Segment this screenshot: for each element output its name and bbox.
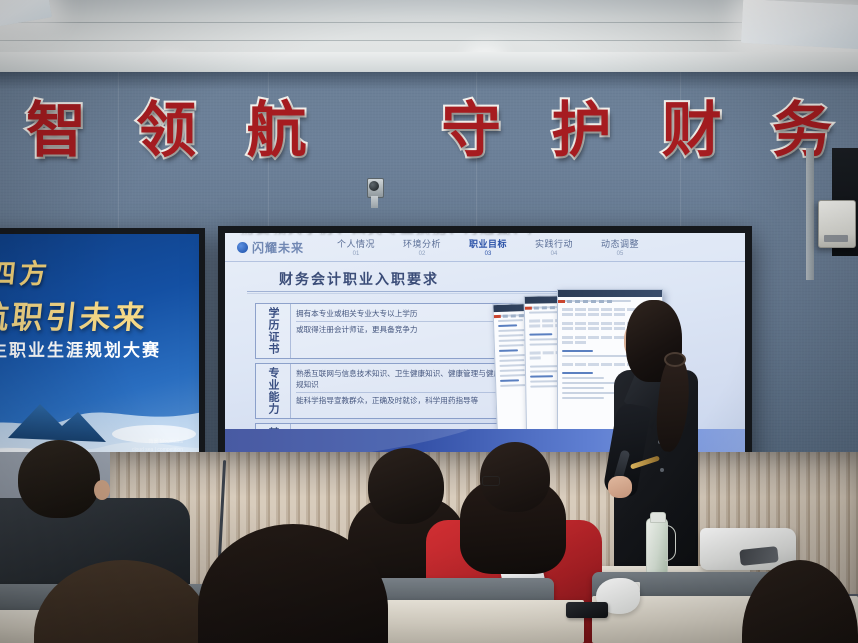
water-bottle (646, 518, 668, 576)
poster-line-3: 大学生职业生涯规划大赛 (0, 336, 161, 361)
slogan-char-4: 守 (441, 92, 501, 172)
slide-footer-text: 需要相关学历、四类专业技能、沟通强、广 (239, 233, 543, 451)
slogan-char-1: 智 (26, 92, 86, 172)
wall-trim (806, 148, 814, 280)
ceiling (0, 0, 858, 78)
wall-camera-icon (366, 178, 383, 208)
attendee-foreground-left (34, 560, 212, 643)
poster-line-1: 在四方 (0, 252, 53, 291)
poster-line-2: 启航职引未来 (0, 292, 150, 337)
ceiling-panel-light (0, 0, 52, 31)
slogan-char-5: 护 (551, 92, 611, 172)
classroom-photo: 智 领 航 守 护 财 务 在四方 启航职引未来 大学生职业生涯规划大赛 (0, 0, 858, 643)
attendee-foreground-right (742, 560, 858, 643)
slogan-char-2: 领 (136, 92, 196, 172)
slogan-char-7: 务 (772, 92, 832, 172)
slogan-char-6: 财 (662, 92, 722, 172)
hair-tie (664, 352, 686, 367)
wall-slogan: 智 领 航 守 护 财 务 (0, 92, 858, 172)
attendee-foreground-center (198, 524, 388, 643)
glasses-icon (482, 476, 500, 486)
slogan-char-3: 航 (247, 92, 307, 172)
wall-speaker-icon (818, 200, 856, 248)
smartphone (566, 602, 608, 618)
nav-item-4[interactable]: 动态调整 05 (587, 237, 653, 257)
ceiling-panel-light (741, 0, 858, 49)
